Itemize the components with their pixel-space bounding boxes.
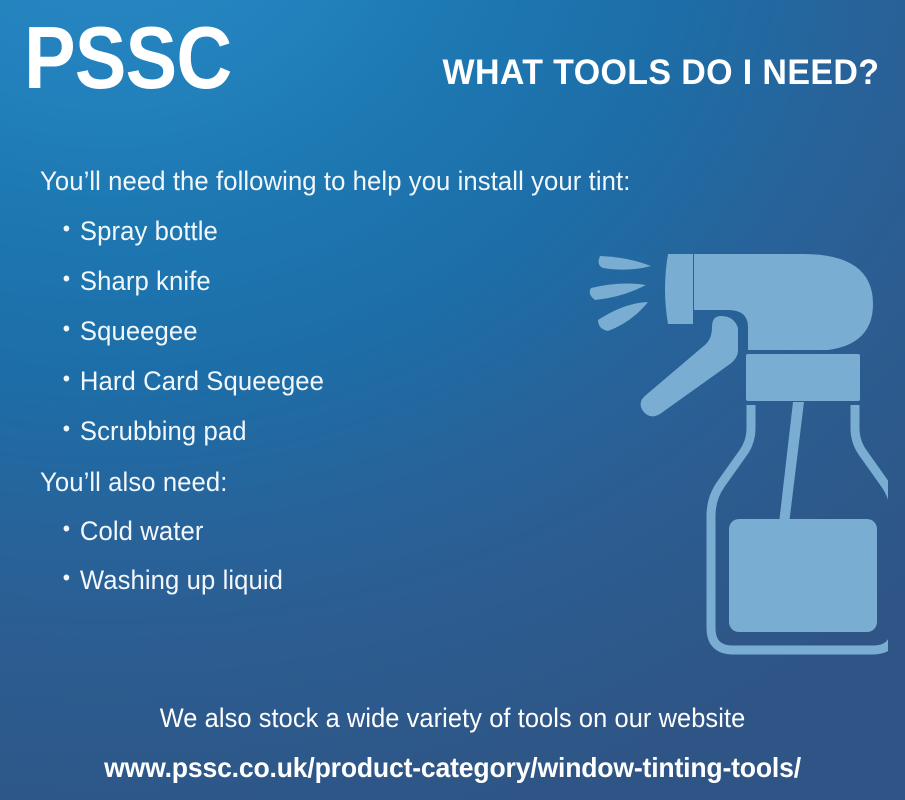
list-item: Hard Card Squeegee (40, 368, 572, 395)
spray-mist-icon (590, 256, 651, 331)
liquid-fill (729, 519, 877, 632)
body-copy: You’ll need the following to help you in… (40, 168, 600, 616)
infographic-canvas: PSSC WHAT TOOLS DO I NEED? You’ll need t… (0, 0, 905, 800)
list-item: Washing up liquid (40, 567, 572, 594)
page-title: WHAT TOOLS DO I NEED? (442, 55, 879, 90)
dip-tube (778, 402, 804, 532)
trigger-lever (641, 316, 738, 416)
footer: We also stock a wide variety of tools on… (0, 705, 905, 782)
list-item: Cold water (40, 518, 572, 545)
pssc-logo: PSSC (24, 14, 231, 102)
list-item: Sharp knife (40, 268, 572, 295)
website-url[interactable]: www.pssc.co.uk/product-category/window-t… (23, 754, 883, 782)
spray-bottle-illustration (588, 232, 888, 672)
tools-list: Spray bottle Sharp knife Squeegee Hard C… (40, 218, 600, 445)
list-item: Spray bottle (40, 218, 572, 245)
footer-note: We also stock a wide variety of tools on… (27, 705, 878, 732)
list-item: Squeegee (40, 318, 572, 345)
list-item: Scrubbing pad (40, 418, 572, 445)
lead-primary: You’ll need the following to help you in… (40, 168, 572, 195)
bottle-collar (746, 354, 860, 401)
lead-secondary: You’ll also need: (40, 469, 572, 496)
extras-list: Cold water Washing up liquid (40, 518, 600, 594)
nozzle-tip (665, 254, 693, 324)
